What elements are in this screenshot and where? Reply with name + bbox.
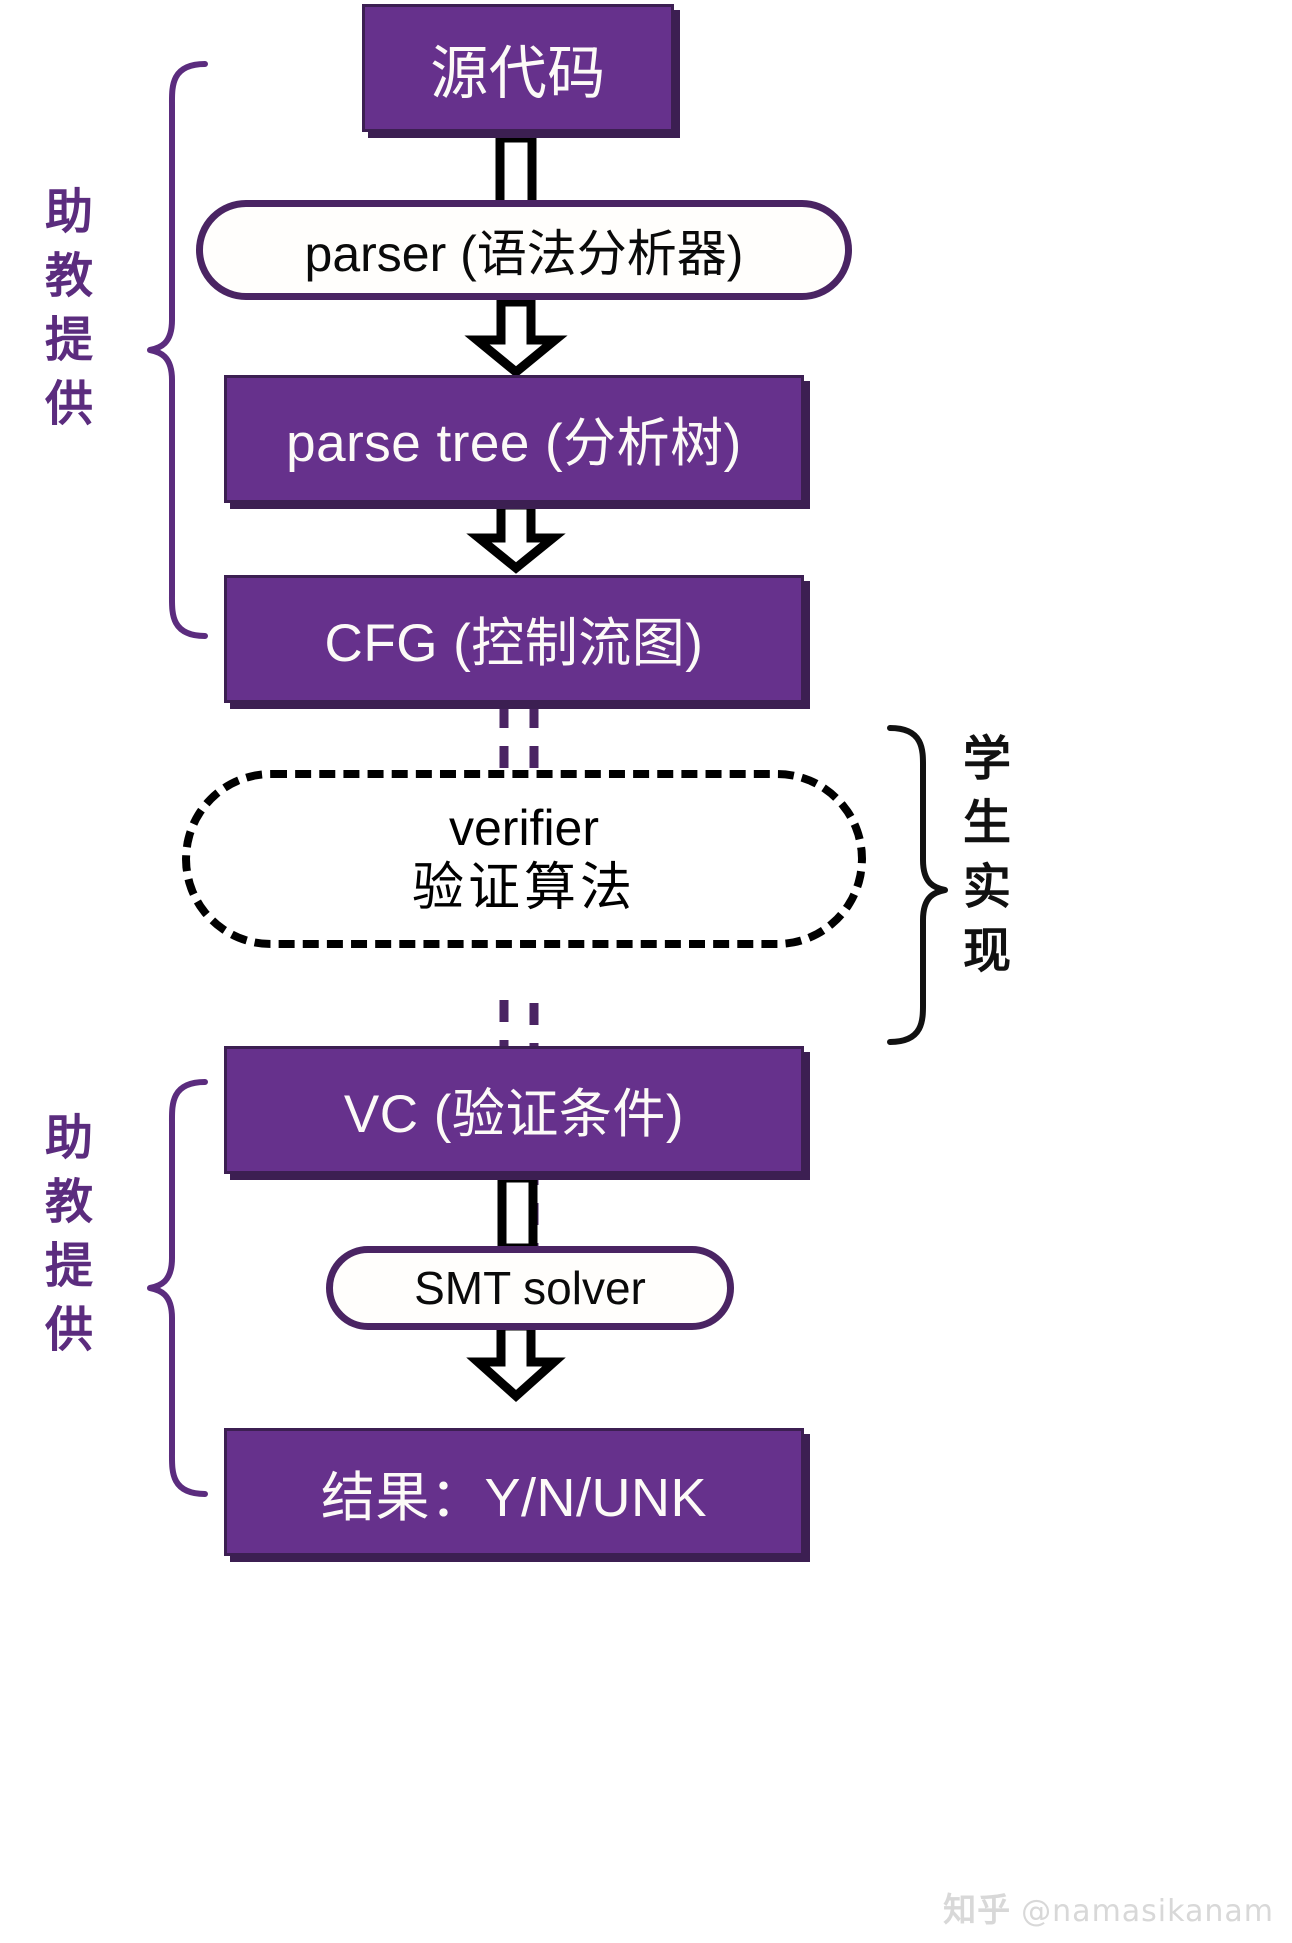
node-verifier-label-line2: 验证算法 — [412, 858, 636, 919]
watermark-handle: @namasikanam — [1021, 1894, 1274, 1929]
node-source[interactable]: 源代码 — [362, 4, 674, 132]
arrow-smt-to-result — [478, 1326, 554, 1396]
node-verifier-label-line1: verifier — [449, 799, 599, 858]
node-source-label: 源代码 — [430, 26, 606, 110]
arrow-vc-to-smt — [502, 1178, 533, 1248]
node-parser[interactable]: parser (语法分析器) — [196, 200, 852, 300]
annotation-ta-bottom: 助教提供 — [40, 1112, 88, 1368]
arrow-parsetree-to-cfg — [479, 505, 553, 568]
arrow-source-to-parser — [500, 138, 532, 208]
node-vc[interactable]: VC (验证条件) — [224, 1046, 804, 1174]
watermark: 知乎 @namasikanam — [943, 1883, 1274, 1931]
diagram-canvas: 源代码 parser (语法分析器) parse tree (分析树) CFG … — [0, 0, 1292, 1943]
annotation-ta-bottom-text: 助教提供 — [36, 1112, 92, 1368]
node-result[interactable]: 结果：Y/N/UNK — [224, 1428, 804, 1556]
node-cfg-label: CFG (控制流图) — [325, 601, 704, 677]
node-cfg[interactable]: CFG (控制流图) — [224, 575, 804, 703]
watermark-brand: 知乎 — [943, 1883, 1011, 1931]
node-smt-label: SMT solver — [414, 1261, 646, 1315]
node-vc-label: VC (验证条件) — [344, 1072, 684, 1148]
annotation-ta-top: 助教提供 — [40, 186, 88, 442]
arrow-parser-to-parsetree — [477, 302, 555, 372]
node-verifier[interactable]: verifier 验证算法 — [182, 770, 866, 948]
brace-ta-bottom — [150, 1082, 205, 1494]
node-parsetree-label: parse tree (分析树) — [286, 401, 742, 477]
node-parser-label: parser (语法分析器) — [305, 214, 744, 286]
node-result-label: 结果：Y/N/UNK — [321, 1453, 707, 1532]
brace-ta-top — [150, 64, 205, 636]
node-smt[interactable]: SMT solver — [326, 1246, 734, 1330]
annotation-student: 学生实现 — [958, 733, 1006, 989]
brace-student — [890, 728, 945, 1042]
annotation-student-text: 学生实现 — [954, 733, 1010, 989]
node-parsetree[interactable]: parse tree (分析树) — [224, 375, 804, 503]
annotation-ta-top-text: 助教提供 — [36, 186, 92, 442]
